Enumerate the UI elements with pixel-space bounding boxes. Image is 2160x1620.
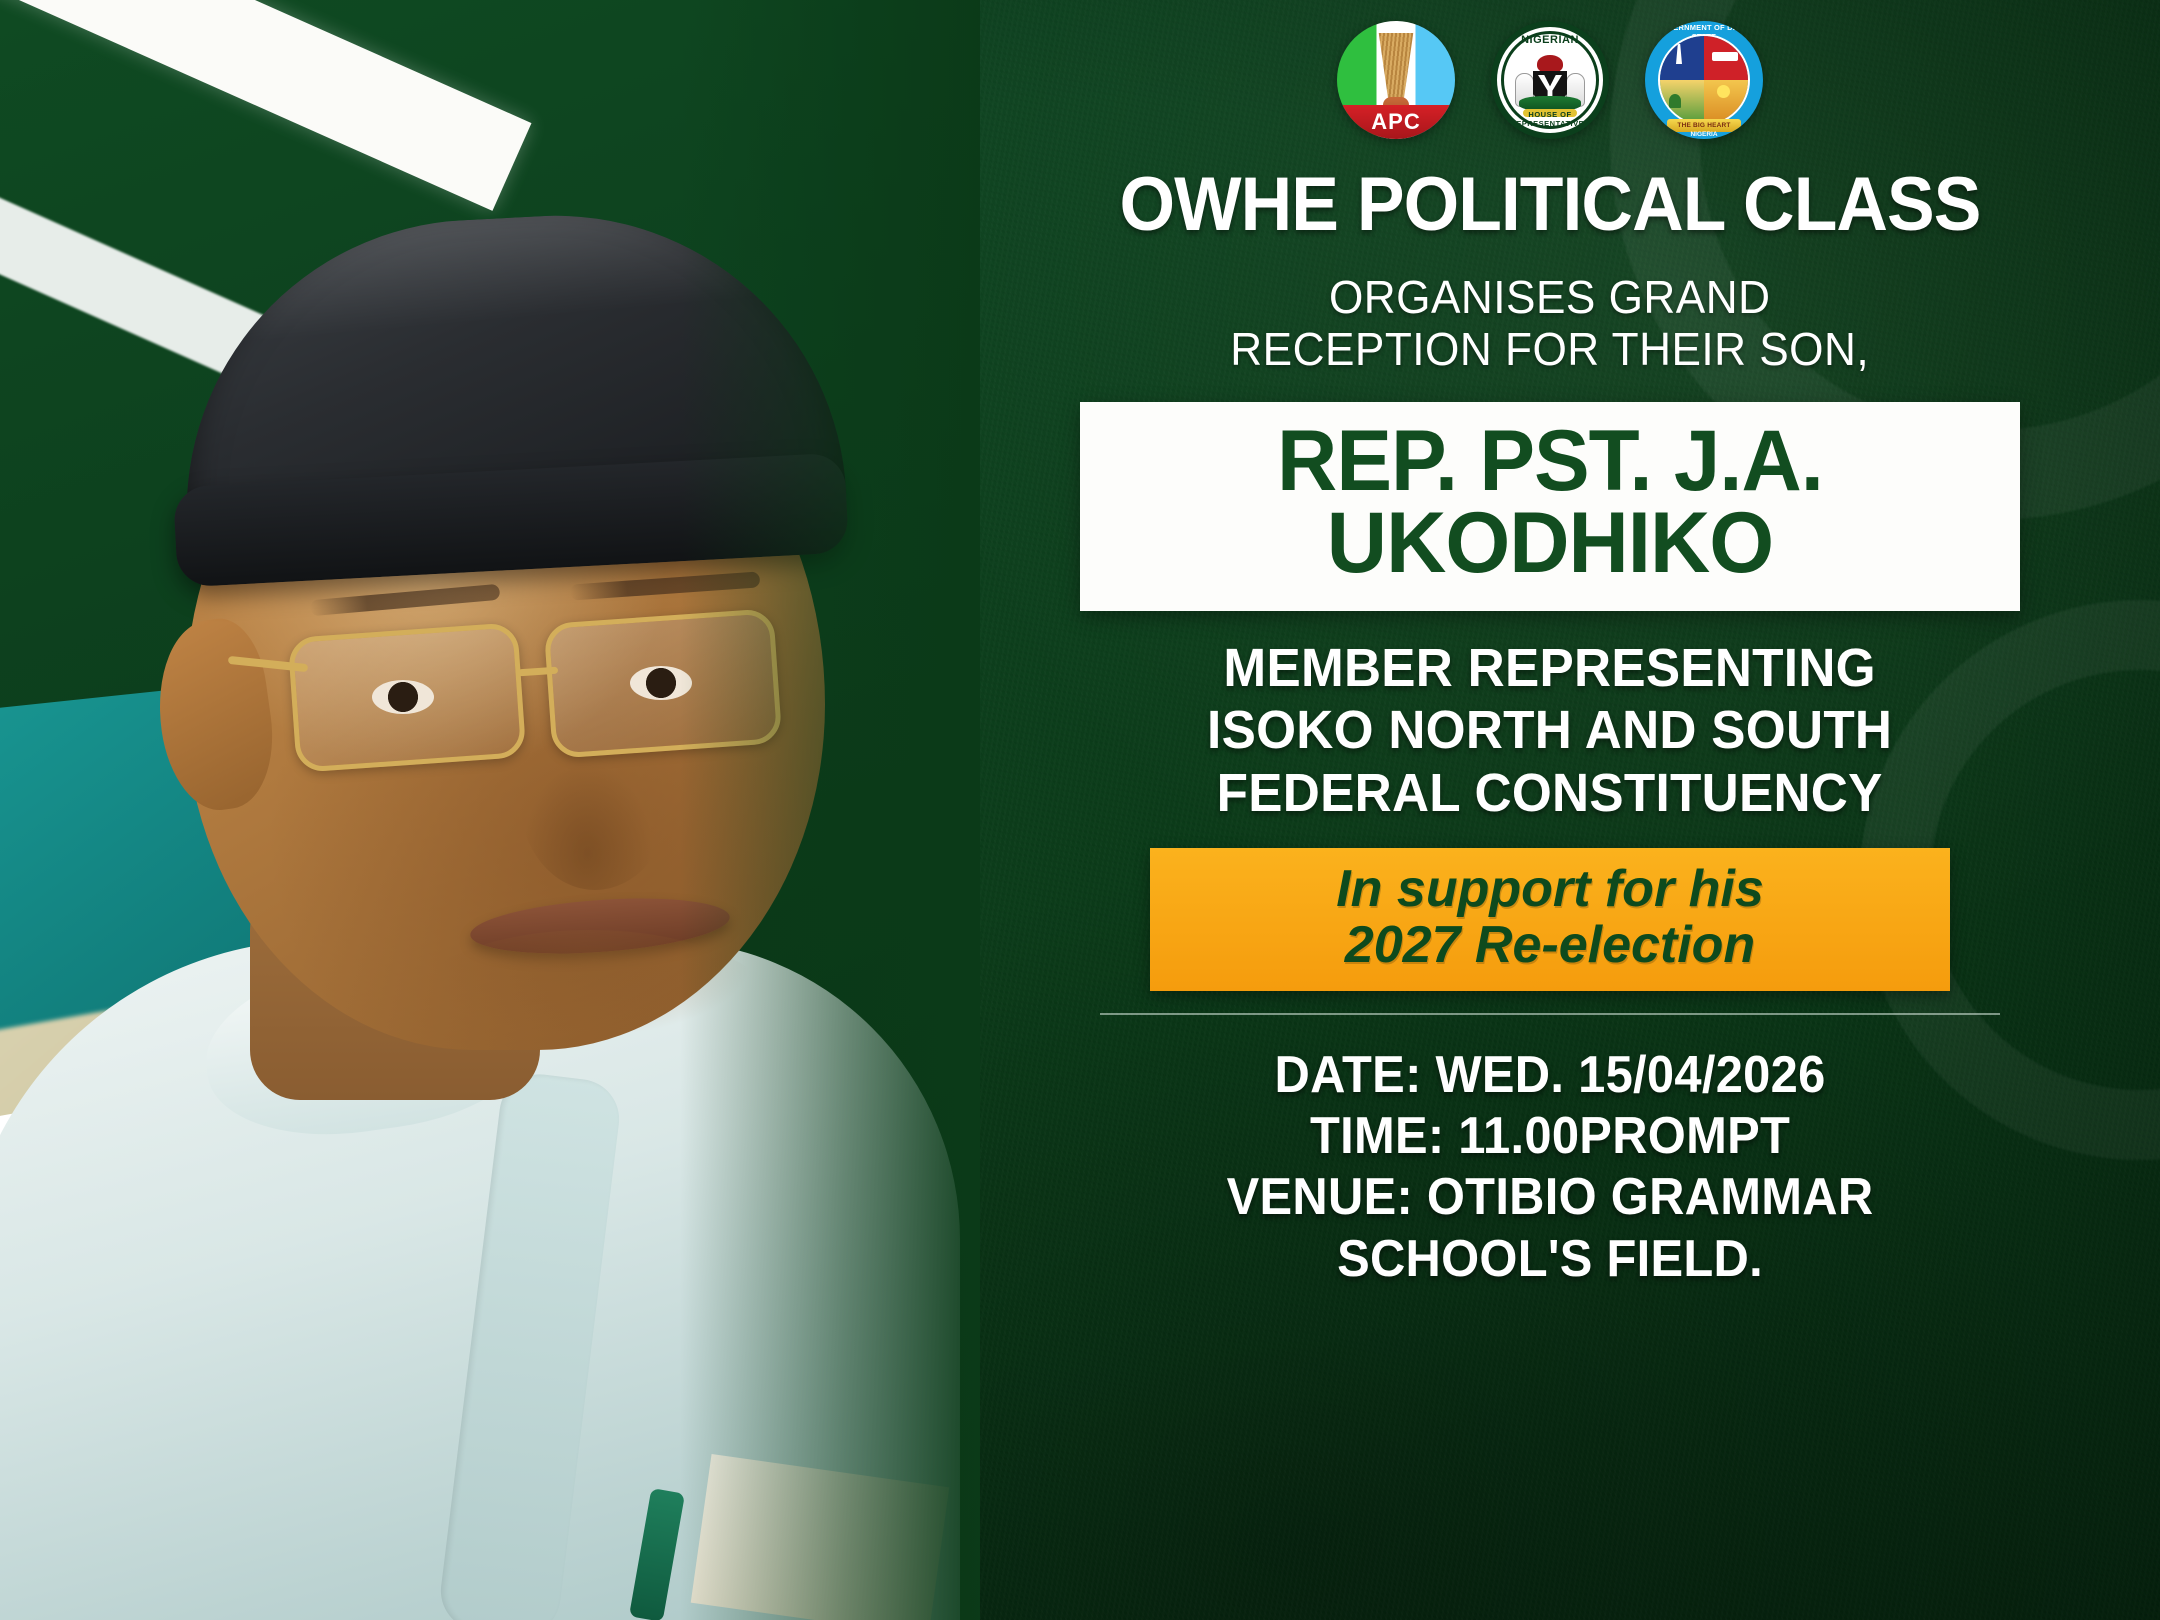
house-of-representatives-logo: NIGERIAN HOUSE OF REPRESENTATIVES xyxy=(1491,21,1609,139)
reelection-banner-line-1: In support for his xyxy=(1170,862,1930,917)
honoree-name-line-2: UKODHIKO xyxy=(1119,502,1980,585)
delta-state-logo: GOVERNMENT OF DELTA STATE THE BIG HEART … xyxy=(1645,21,1763,139)
reelection-support-banner: In support for his 2027 Re-election xyxy=(1150,848,1950,990)
delta-state-bottom-text: NIGERIA xyxy=(1645,131,1763,138)
house-of-representatives-top-text: NIGERIAN xyxy=(1497,34,1603,46)
book-icon xyxy=(1712,52,1738,61)
eye-left xyxy=(372,680,434,714)
event-date: DATE: WED. 15/04/2026 xyxy=(1227,1045,1874,1106)
event-venue-line-1: VENUE: OTIBIO GRAMMAR xyxy=(1227,1167,1874,1228)
event-details: DATE: WED. 15/04/2026 TIME: 11.00PROMPT … xyxy=(1227,1045,1874,1290)
shield-quarter-palm xyxy=(1660,80,1704,124)
portrait-edge-fade xyxy=(680,0,980,1620)
broom-icon xyxy=(1369,33,1423,101)
lighthouse-icon xyxy=(1676,44,1682,64)
reelection-banner-line-2: 2027 Re-election xyxy=(1170,918,1930,973)
honoree-role-line-3: FEDERAL CONSTITUENCY xyxy=(1207,762,1892,825)
honoree-name-line-1: REP. PST. J.A. xyxy=(1119,420,1980,503)
portrait-photo xyxy=(0,0,980,1620)
eagle-icon xyxy=(1537,55,1563,73)
poster-content-column: APC NIGERIAN HOUSE OF REPRESENTATIVES GO… xyxy=(940,0,2160,1620)
subject-nose xyxy=(520,710,670,890)
honoree-role: MEMBER REPRESENTING ISOKO NORTH AND SOUT… xyxy=(1207,637,1892,825)
event-description: ORGANISES GRAND RECEPTION FOR THEIR SON, xyxy=(1231,272,1870,375)
event-description-line-1: ORGANISES GRAND xyxy=(1231,272,1870,324)
political-event-poster: APC NIGERIAN HOUSE OF REPRESENTATIVES GO… xyxy=(0,0,2160,1620)
house-of-representatives-bottom-text: HOUSE OF REPRESENTATIVES xyxy=(1497,110,1603,128)
section-divider xyxy=(1100,1013,2000,1015)
shield-quarter-book xyxy=(1704,36,1748,80)
palm-tree-icon xyxy=(1669,94,1681,108)
shield-quarter-lighthouse xyxy=(1660,36,1704,80)
page-title: OWHE POLITICAL CLASS xyxy=(1120,168,1981,242)
apc-logo-label: APC xyxy=(1337,105,1455,139)
honoree-role-line-1: MEMBER REPRESENTING xyxy=(1207,637,1892,700)
honoree-nameplate: REP. PST. J.A. UKODHIKO xyxy=(1080,402,2020,611)
sun-icon xyxy=(1717,85,1730,98)
event-venue-line-2: SCHOOL'S FIELD. xyxy=(1227,1229,1874,1290)
apc-logo: APC xyxy=(1337,21,1455,139)
delta-state-shield xyxy=(1658,34,1750,126)
honoree-role-line-2: ISOKO NORTH AND SOUTH xyxy=(1207,699,1892,762)
event-time: TIME: 11.00PROMPT xyxy=(1227,1106,1874,1167)
logo-row: APC NIGERIAN HOUSE OF REPRESENTATIVES GO… xyxy=(1337,16,1763,144)
shield-quarter-farmer xyxy=(1704,80,1748,124)
event-description-line-2: RECEPTION FOR THEIR SON, xyxy=(1231,324,1870,376)
